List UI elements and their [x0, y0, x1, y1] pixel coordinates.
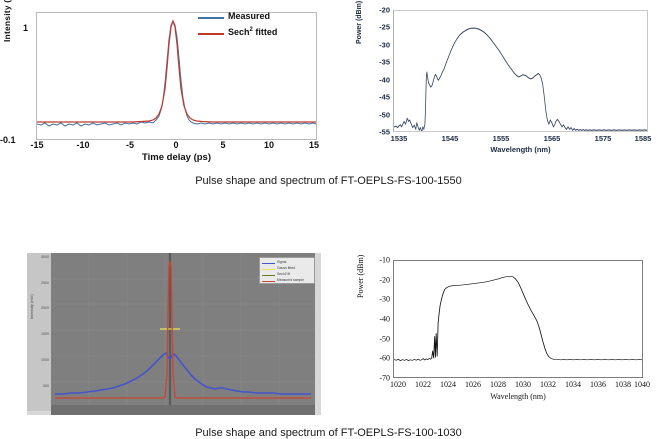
autocorr-1030-ytick: 1500: [41, 332, 49, 336]
legend-item-measured-sample: Measured sample: [262, 279, 312, 284]
legend-swatch-sech2-icon: [198, 33, 224, 35]
spectrum-1030-xtick: 1030: [515, 380, 531, 389]
legend-label-measured: Measured: [228, 11, 270, 21]
caption-top: Pulse shape and spectrum of FT-OEPLS-FS-…: [0, 175, 657, 187]
spectrum-1030-ytick: -30: [379, 295, 390, 304]
spectrum-1030-xtick: 1032: [540, 380, 556, 389]
spectrum-1550-xtick: 1555: [493, 134, 510, 143]
spectrum-1030-y-axis-ticks: -10 -20 -30 -40 -50 -60 -70: [362, 260, 390, 378]
spectrum-1550-ytick: -30: [379, 40, 390, 49]
legend-label-sech2-suffix: fitted: [253, 27, 278, 37]
autocorr-1550-x-axis-label: Time delay (ps): [36, 152, 317, 163]
legend-label-sech2-base: Sech: [228, 27, 250, 37]
legend-item-measured: Measured: [198, 11, 316, 24]
autocorr-1030-ytick: 3000: [41, 255, 49, 259]
spectrum-1030-plot-area: [393, 260, 643, 378]
spectrum-1550-xtick: 1545: [442, 134, 459, 143]
spectrum-1030-xtick: 1040: [634, 380, 650, 389]
spectrum-1030-ytick: -40: [379, 315, 390, 324]
autocorr-1030-y-axis-label: Intensity (mV): [29, 294, 34, 319]
autocorr-1030-ytick: 2500: [41, 281, 49, 285]
autocorr-1550-xtick: 5: [220, 140, 225, 150]
spectrum-1030-xtick: 1026: [465, 380, 481, 389]
autocorr-1550-y-axis-label: Intensity (a.u.): [2, 0, 12, 42]
spectrum-1550-xtick: 1585: [635, 134, 652, 143]
legend-label-signal: Signal: [277, 260, 286, 264]
autocorr-1030-y-axis-panel: Intensity (mV) 3000 2500 2000 1500 1000 …: [27, 253, 51, 411]
autocorr-1550-xtick: 0: [173, 140, 178, 150]
spectrum-1550-ytick: -45: [379, 93, 390, 102]
figure-autocorrelation-1030-screenshot: Intensity (mV) 3000 2500 2000 1500 1000 …: [27, 253, 321, 415]
spectrum-1030-x-axis-ticks: 1020 1022 1024 1026 1028 1030 1032 1034 …: [393, 380, 643, 392]
legend-label-measured-sample: Measured sample: [277, 278, 304, 282]
spectrum-1550-curve: [394, 11, 647, 131]
autocorr-1550-xtick: -5: [126, 140, 134, 150]
spectrum-1550-ytick: -40: [379, 75, 390, 84]
legend-label-sech2: Sech2 fitted: [228, 27, 277, 37]
figure-autocorrelation-1550: Intensity (a.u.) 1 -0.1 -15 -10 -5 0 5 1…: [0, 2, 330, 162]
caption-bottom: Pulse shape and spectrum of FT-OEPLS-FS-…: [0, 427, 657, 439]
autocorr-1030-legend: Signal Gauss fitted Sech2 fit Measured s…: [259, 257, 315, 284]
spectrum-1550-ytick: -25: [379, 23, 390, 32]
spectrum-1550-x-axis-label: Wavelength (nm): [393, 145, 648, 154]
autocorr-1030-ytick: 2000: [41, 306, 49, 310]
spectrum-1550-ytick: -55: [379, 128, 390, 137]
spectrum-1550-trace: [394, 28, 647, 131]
spectrum-1030-xtick: 1024: [440, 380, 456, 389]
spectrum-1550-xtick: 1565: [544, 134, 561, 143]
spectrum-1030-ytick: -10: [379, 256, 390, 265]
spectrum-1030-xtick: 1038: [615, 380, 631, 389]
spectrum-1030-ytick: -70: [379, 374, 390, 383]
autocorr-1550-xtick: -15: [30, 140, 43, 150]
spectrum-1030-xtick: 1022: [415, 380, 431, 389]
spectrum-1030-ytick: -20: [379, 275, 390, 284]
spectrum-1550-ytick: -50: [379, 110, 390, 119]
autocorr-1550-ytick-bottom: -0.1: [0, 135, 16, 145]
legend-item-sech2: Sech2 fitted: [198, 27, 316, 40]
autocorr-1550-legend: Measured Sech2 fitted: [198, 11, 316, 45]
legend-swatch-gauss-icon: [262, 269, 275, 270]
autocorr-1030-ytick: 500: [43, 384, 49, 388]
spectrum-1550-y-axis-ticks: -20 -25 -30 -35 -40 -45 -50 -55: [362, 10, 390, 132]
spectrum-1550-ytick: -35: [379, 58, 390, 67]
autocorr-1550-ytick-top: 1: [23, 23, 28, 33]
autocorr-1030-signal-curve: [55, 353, 311, 394]
autocorr-1550-xtick: 15: [309, 140, 319, 150]
autocorr-1550-xtick: -10: [76, 140, 89, 150]
autocorr-1550-xtick: 10: [264, 140, 274, 150]
figure-spectrum-1030: Power (dBm) -10 -20 -30 -40 -50 -60 -70 …: [350, 250, 657, 415]
legend-swatch-sech2-icon: [262, 275, 275, 276]
legend-swatch-measured-icon: [198, 17, 224, 19]
spectrum-1030-xtick: 1028: [490, 380, 506, 389]
legend-label-gauss: Gauss fitted: [277, 266, 295, 270]
spectrum-1550-xtick: 1535: [391, 134, 408, 143]
spectrum-1550-ytick: -20: [379, 6, 390, 15]
autocorr-1030-ytick: 1000: [41, 358, 49, 362]
spectrum-1030-xtick: 1034: [565, 380, 581, 389]
spectrum-1030-xtick: 1036: [590, 380, 606, 389]
figure-spectrum-1550: Power (dBm) -20 -25 -30 -35 -40 -45 -50 …: [350, 2, 657, 162]
autocorr-1030-x-axis-strip: [51, 405, 315, 415]
spectrum-1030-ytick: -50: [379, 334, 390, 343]
spectrum-1550-xtick: 1575: [595, 134, 612, 143]
spectrum-1030-xtick: 1020: [390, 380, 406, 389]
spectrum-1030-ytick: -60: [379, 354, 390, 363]
legend-label-sech2: Sech2 fit: [277, 272, 290, 276]
spectrum-1550-plot-area: [393, 10, 648, 132]
spectrum-1030-x-axis-label: Wavelength (nm): [393, 392, 643, 401]
legend-swatch-signal-icon: [262, 263, 275, 264]
spectrum-1030-trace: [394, 276, 642, 360]
spectrum-1030-curve: [394, 261, 642, 377]
legend-swatch-measured-icon: [262, 281, 275, 282]
